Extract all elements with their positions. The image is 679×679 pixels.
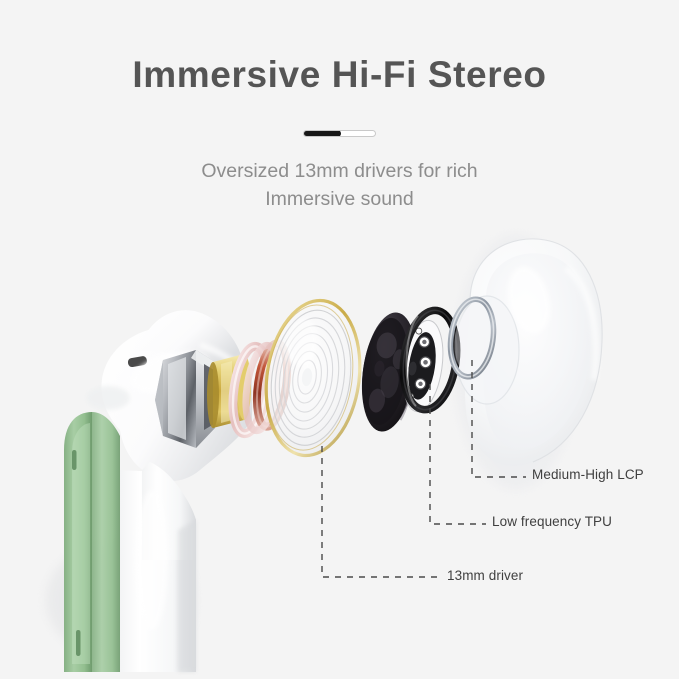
diaphragm-disc xyxy=(257,294,370,461)
infographic-canvas: Immersive Hi-Fi Stereo Oversized 13mm dr… xyxy=(0,0,679,679)
mic-slot-top xyxy=(72,450,77,470)
callout-label-low-frequency-tpu: Low frequency TPU xyxy=(492,514,612,529)
callout-label-medium-high-lcp: Medium-High LCP xyxy=(532,467,644,482)
mic-slot-bottom xyxy=(76,630,81,656)
callout-label-13mm-driver: 13mm driver xyxy=(447,568,523,583)
leader-line-driver xyxy=(322,446,440,577)
chrome-nozzle xyxy=(155,350,215,448)
product-illustration xyxy=(0,0,679,679)
